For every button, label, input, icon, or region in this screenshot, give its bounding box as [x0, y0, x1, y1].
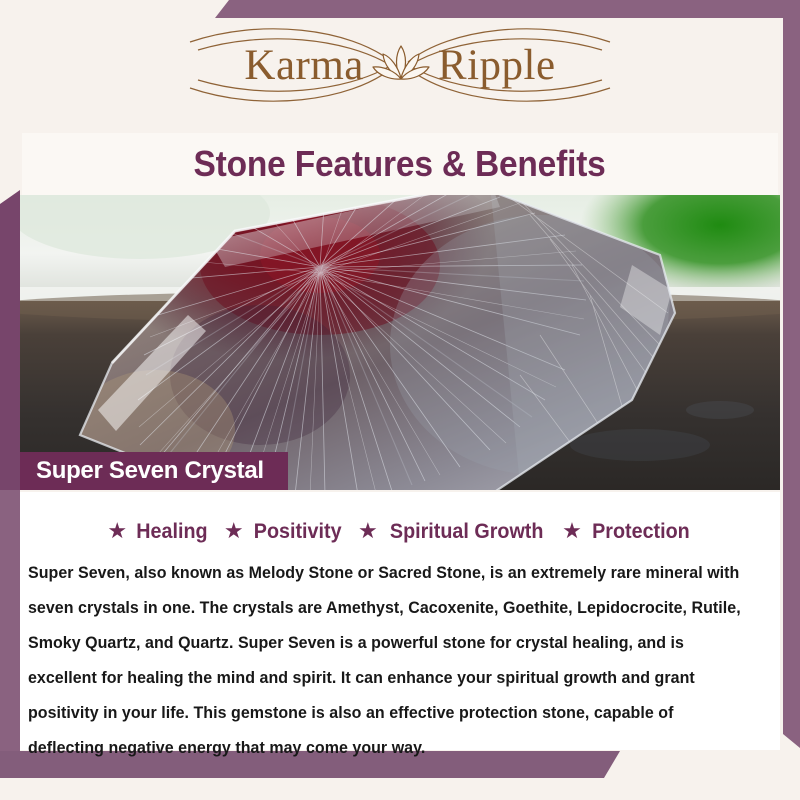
page-title-band: Stone Features & Benefits [22, 133, 778, 195]
crystal-photo-image [20, 195, 780, 490]
feature-label-spiritual-growth: Spiritual Growth [390, 520, 544, 544]
feature-label-protection: Protection [592, 520, 690, 544]
stone-name-banner: Super Seven Crystal [20, 452, 288, 490]
crystal-photo [20, 195, 780, 490]
brand-name-second: Ripple [438, 41, 556, 90]
features-list: ★ Healing ★ Positivity ★ Spiritual Growt… [20, 512, 780, 552]
feature-item-spiritual-growth: ★ Spiritual Growth [358, 520, 548, 544]
star-icon: ★ [107, 520, 127, 542]
page-title: Stone Features & Benefits [194, 143, 606, 185]
brand-header: Karma Ripple [0, 0, 800, 130]
feature-item-positivity: ★ Positivity [224, 520, 344, 544]
frame-band-left-lower [0, 490, 20, 775]
stone-name-label: Super Seven Crystal [36, 457, 264, 485]
lotus-icon [370, 42, 432, 88]
feature-item-protection: ★ Protection [562, 520, 693, 544]
poster-root: Karma Ripple Stone Features & Benefits [0, 0, 800, 800]
brand-logo: Karma Ripple [170, 20, 630, 110]
star-icon: ★ [358, 520, 378, 542]
feature-label-healing: Healing [136, 520, 207, 544]
star-icon: ★ [562, 520, 582, 542]
brand-name-first: Karma [244, 41, 364, 90]
content-card: ★ Healing ★ Positivity ★ Spiritual Growt… [20, 492, 780, 750]
description-paragraph: Super Seven, also known as Melody Stone … [28, 556, 753, 766]
star-icon: ★ [224, 520, 244, 542]
feature-label-positivity: Positivity [253, 520, 341, 544]
frame-band-left-upper [0, 190, 20, 490]
feature-item-healing: ★ Healing [107, 520, 210, 544]
